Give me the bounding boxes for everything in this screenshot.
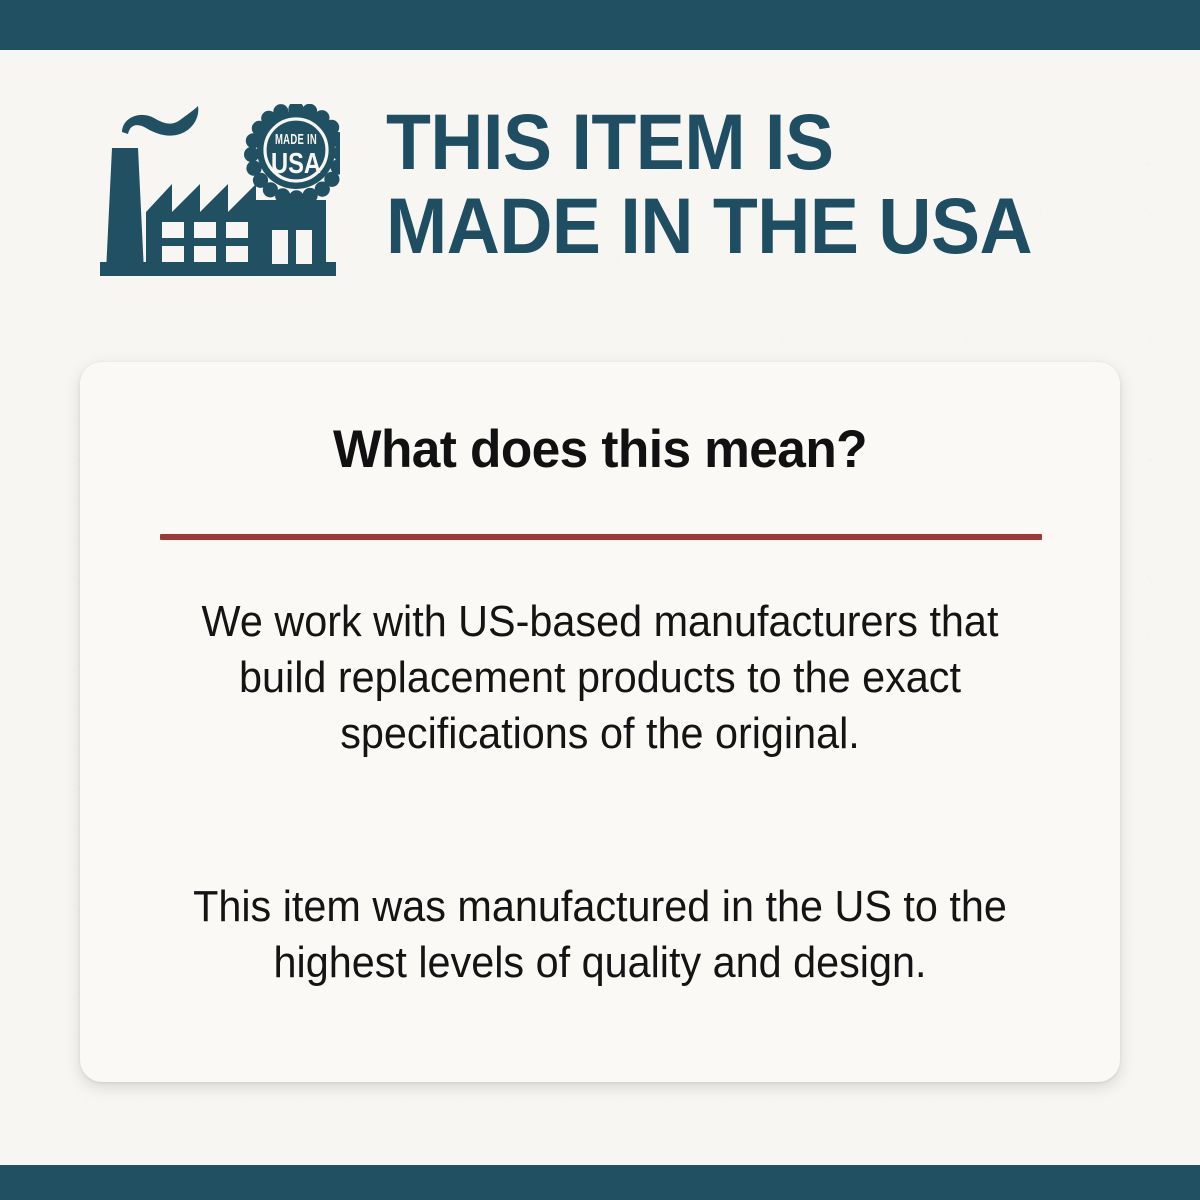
- card-heading: What does this mean?: [96, 420, 1105, 480]
- banner-title-line-1: THIS ITEM IS: [386, 100, 1121, 184]
- top-accent-band: [0, 0, 1200, 50]
- made-in-usa-banner: MADE IN USA THIS ITEM IS MADE IN THE USA…: [0, 0, 1200, 1200]
- svg-text:USA: USA: [271, 148, 321, 180]
- banner-title-line-2: MADE IN THE USA: [386, 184, 1121, 268]
- card-paragraph-2: This item was manufactured in the US to …: [168, 879, 1033, 991]
- banner-header: MADE IN USA THIS ITEM IS MADE IN THE USA: [0, 96, 1200, 296]
- svg-text:MADE IN: MADE IN: [275, 132, 317, 148]
- card-divider: [160, 534, 1042, 540]
- banner-title: THIS ITEM IS MADE IN THE USA: [386, 100, 1176, 268]
- factory-icon: MADE IN USA: [100, 104, 340, 284]
- info-card: What does this mean? We work with US-bas…: [80, 362, 1120, 1082]
- bottom-accent-band: [0, 1165, 1200, 1200]
- made-in-usa-badge-icon: MADE IN USA: [244, 104, 340, 206]
- card-paragraph-1: We work with US-based manufacturers that…: [168, 594, 1033, 762]
